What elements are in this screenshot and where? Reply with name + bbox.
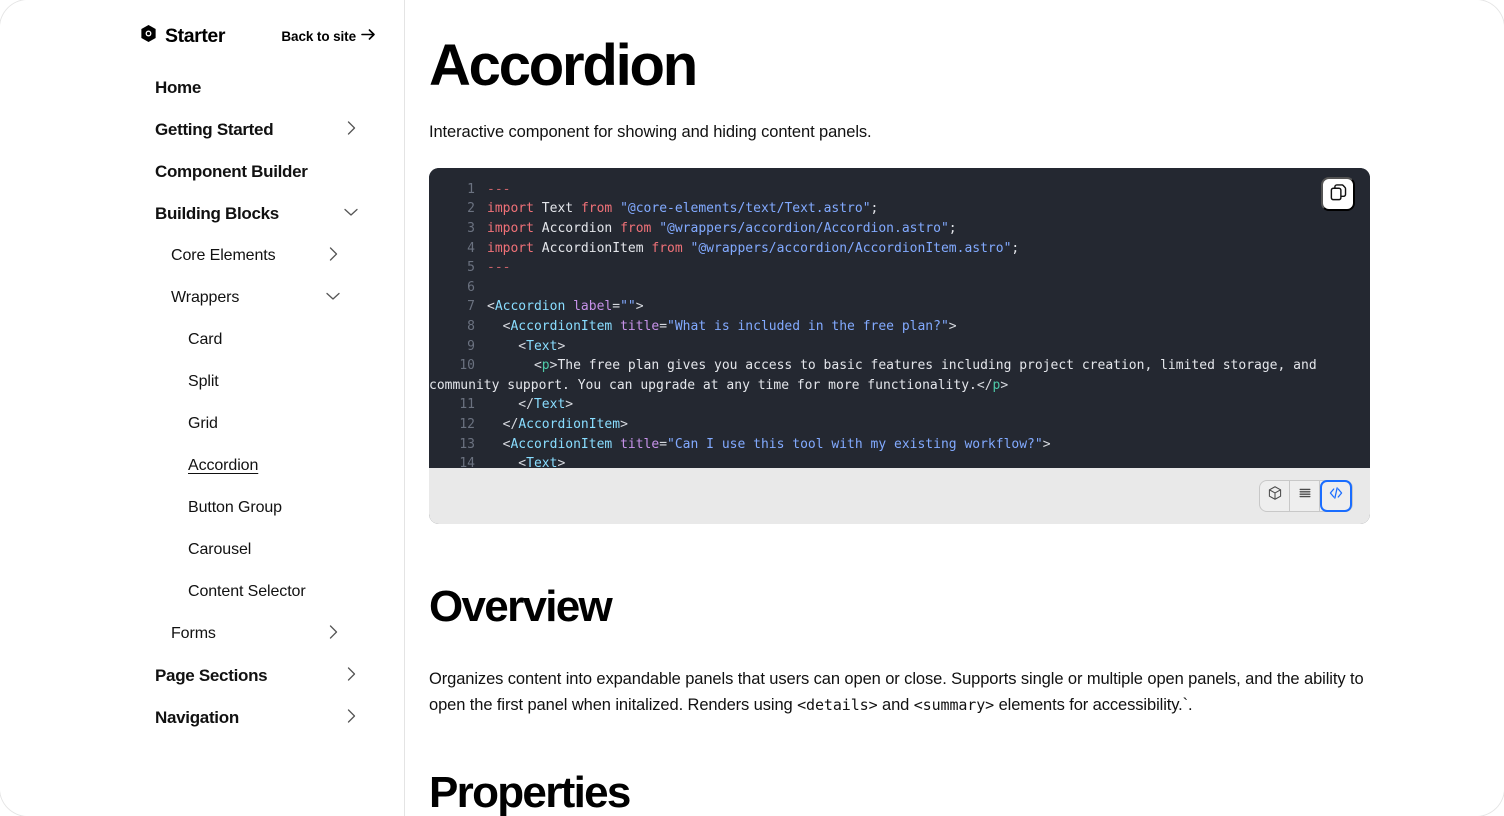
chevron-down-icon [324,287,342,310]
code-token: p [542,358,550,373]
code-token: = [659,319,667,334]
code-token: "What is included in the free plan?" [667,319,949,334]
code-token: > [1043,437,1051,452]
code-token: "@wrappers/accordion/Accordion.astro" [659,221,949,236]
overview-text-part-3: elements for accessibility.`. [994,696,1192,714]
brand-logo[interactable]: Starter [139,24,225,48]
code-token: AccordionItem [510,437,612,452]
code-line-number: 11 [429,395,475,415]
code-token: Accordion [534,221,620,236]
code-token: "@wrappers/accordion/AccordionItem.astro… [691,241,1012,256]
code-token: > [636,299,644,314]
code-token: > [557,339,565,354]
code-line-number: 3 [429,219,475,239]
brand-name: Starter [165,25,225,48]
code-token: < [487,319,510,334]
inline-code-details: <details> [797,696,877,714]
code-token: < [487,358,542,373]
code-token [612,319,620,334]
code-token: > [949,319,957,334]
code-token: AccordionItem [510,319,612,334]
sidebar-item-content-selector[interactable]: Content Selector [0,580,376,604]
code-line-number: 4 [429,239,475,259]
code-line-number: 5 [429,258,475,278]
code-token: Text [534,201,581,216]
sidebar-item-label: Button Group [188,499,282,517]
sidebar-item-split[interactable]: Split [0,370,376,394]
sidebar-item-label: Building Blocks [155,204,279,224]
sidebar-item-label: Core Elements [171,247,276,265]
code-token: </ [487,397,534,412]
sidebar-item-label: Component Builder [155,162,308,182]
chevron-right-icon [324,623,342,646]
code-token: import [487,241,534,256]
code-token: Text [526,456,557,468]
code-token: "" [620,299,636,314]
inline-code-summary: <summary> [914,696,994,714]
sidebar-item-component-builder[interactable]: Component Builder [0,160,376,184]
sidebar-item-label: Wrappers [171,289,239,307]
code-line-number: 6 [429,278,475,298]
code-token: from [620,221,651,236]
sidebar-item-accordion[interactable]: Accordion [0,454,376,478]
sidebar-item-label: Grid [188,415,218,433]
code-token [612,437,620,452]
code-token: </ [487,417,518,432]
code-token: import [487,201,534,216]
sidebar-item-wrappers[interactable]: Wrappers [0,286,376,310]
main-content: Accordion Interactive component for show… [405,0,1504,816]
code-token: title [620,437,659,452]
code-token: label [573,299,612,314]
page-intro: Interactive component for showing and hi… [429,123,1374,142]
sidebar-item-label: Forms [171,625,216,643]
chevron-right-icon [342,119,360,142]
code-token: title [620,319,659,334]
code-token: </ [977,378,993,393]
sidebar-item-page-sections[interactable]: Page Sections [0,664,376,688]
sidebar-item-grid[interactable]: Grid [0,412,376,436]
app-window: Starter Back to site HomeGetting Started… [0,0,1504,816]
list-lines-icon [1297,485,1313,506]
code-token: > [1000,378,1008,393]
code-surface: 1--- 2import Text from "@core-elements/t… [429,168,1370,468]
code-token: from [581,201,612,216]
code-block[interactable]: 1--- 2import Text from "@core-elements/t… [429,180,1370,468]
hexagon-dot-icon [139,24,158,48]
section-heading-properties: Properties [429,768,1374,816]
sidebar-item-label: Card [188,331,222,349]
chevron-right-icon [342,665,360,688]
code-token: < [487,456,526,468]
code-line-number: 8 [429,317,475,337]
sidebar-item-label: Navigation [155,708,239,728]
code-token: ; [1011,241,1019,256]
section-body-overview: Organizes content into expandable panels… [429,666,1374,718]
sidebar-header: Starter Back to site [0,18,404,54]
code-token: "Can I use this tool with my existing wo… [667,437,1043,452]
sidebar-item-label: Carousel [188,541,251,559]
code-token: > [620,417,628,432]
sidebar-item-core-elements[interactable]: Core Elements [0,244,376,268]
sidebar-item-card[interactable]: Card [0,328,376,352]
code-token: --- [487,182,510,197]
code-token: Text [526,339,557,354]
sidebar-item-carousel[interactable]: Carousel [0,538,376,562]
code-token: The free plan gives you access to basic … [429,358,1324,393]
code-token: import [487,221,534,236]
sidebar-item-label: Accordion [188,457,258,475]
code-token: Text [534,397,565,412]
code-line-number: 12 [429,415,475,435]
view-mode-preview-button[interactable] [1260,481,1290,511]
code-line-number: 10 [429,356,475,376]
code-line-number: 9 [429,337,475,357]
chevron-down-icon [342,203,360,226]
arrow-right-icon [361,28,376,44]
sidebar-item-forms[interactable]: Forms [0,622,376,646]
code-token [565,299,573,314]
code-token [683,241,691,256]
sidebar-nav: HomeGetting StartedComponent BuilderBuil… [0,76,404,730]
code-line-number: 14 [429,454,475,468]
code-token: AccordionItem [518,417,620,432]
sidebar-item-getting-started[interactable]: Getting Started [0,118,376,142]
code-token: = [659,437,667,452]
sidebar: Starter Back to site HomeGetting Started… [0,0,405,816]
code-token: = [612,299,620,314]
code-token: > [565,397,573,412]
code-token: ; [871,201,879,216]
copy-pages-icon [1329,183,1348,205]
cube-preview-icon [1267,485,1283,506]
chevron-right-icon [342,707,360,730]
code-line-number: 1 [429,180,475,200]
page-title: Accordion [429,36,1374,97]
code-token: AccordionItem [534,241,651,256]
code-token: < [487,339,526,354]
sidebar-item-home[interactable]: Home [0,76,376,100]
code-token: from [651,241,682,256]
sidebar-item-button-group[interactable]: Button Group [0,496,376,520]
back-to-site-link[interactable]: Back to site [281,28,376,44]
sidebar-item-label: Content Selector [188,583,306,601]
sidebar-item-navigation[interactable]: Navigation [0,706,376,730]
code-token [612,201,620,216]
section-heading-overview: Overview [429,582,1374,632]
code-line-number: 13 [429,435,475,455]
overview-text-part-2: and [878,696,914,714]
copy-code-button[interactable] [1321,177,1355,211]
code-slash-icon [1328,485,1344,506]
code-token: --- [487,260,510,275]
chevron-right-icon [324,245,342,268]
view-mode-code-button[interactable] [1320,480,1352,512]
view-mode-switcher [1259,480,1353,512]
sidebar-item-building-blocks[interactable]: Building Blocks [0,202,376,226]
view-mode-list-button[interactable] [1290,481,1320,511]
code-token: < [487,299,495,314]
sidebar-item-label: Split [188,373,219,391]
code-line-number: 7 [429,297,475,317]
code-token: < [487,437,510,452]
back-to-site-label: Back to site [281,29,356,44]
sidebar-item-label: Home [155,78,201,98]
sidebar-item-label: Page Sections [155,666,267,686]
sidebar-item-label: Getting Started [155,120,273,140]
code-toolbar [429,468,1370,524]
code-token: > [557,456,565,468]
code-token: ; [949,221,957,236]
code-token: "@core-elements/text/Text.astro" [620,201,870,216]
code-example-card: 1--- 2import Text from "@core-elements/t… [429,168,1370,524]
code-token: Accordion [495,299,565,314]
code-line-number: 2 [429,199,475,219]
